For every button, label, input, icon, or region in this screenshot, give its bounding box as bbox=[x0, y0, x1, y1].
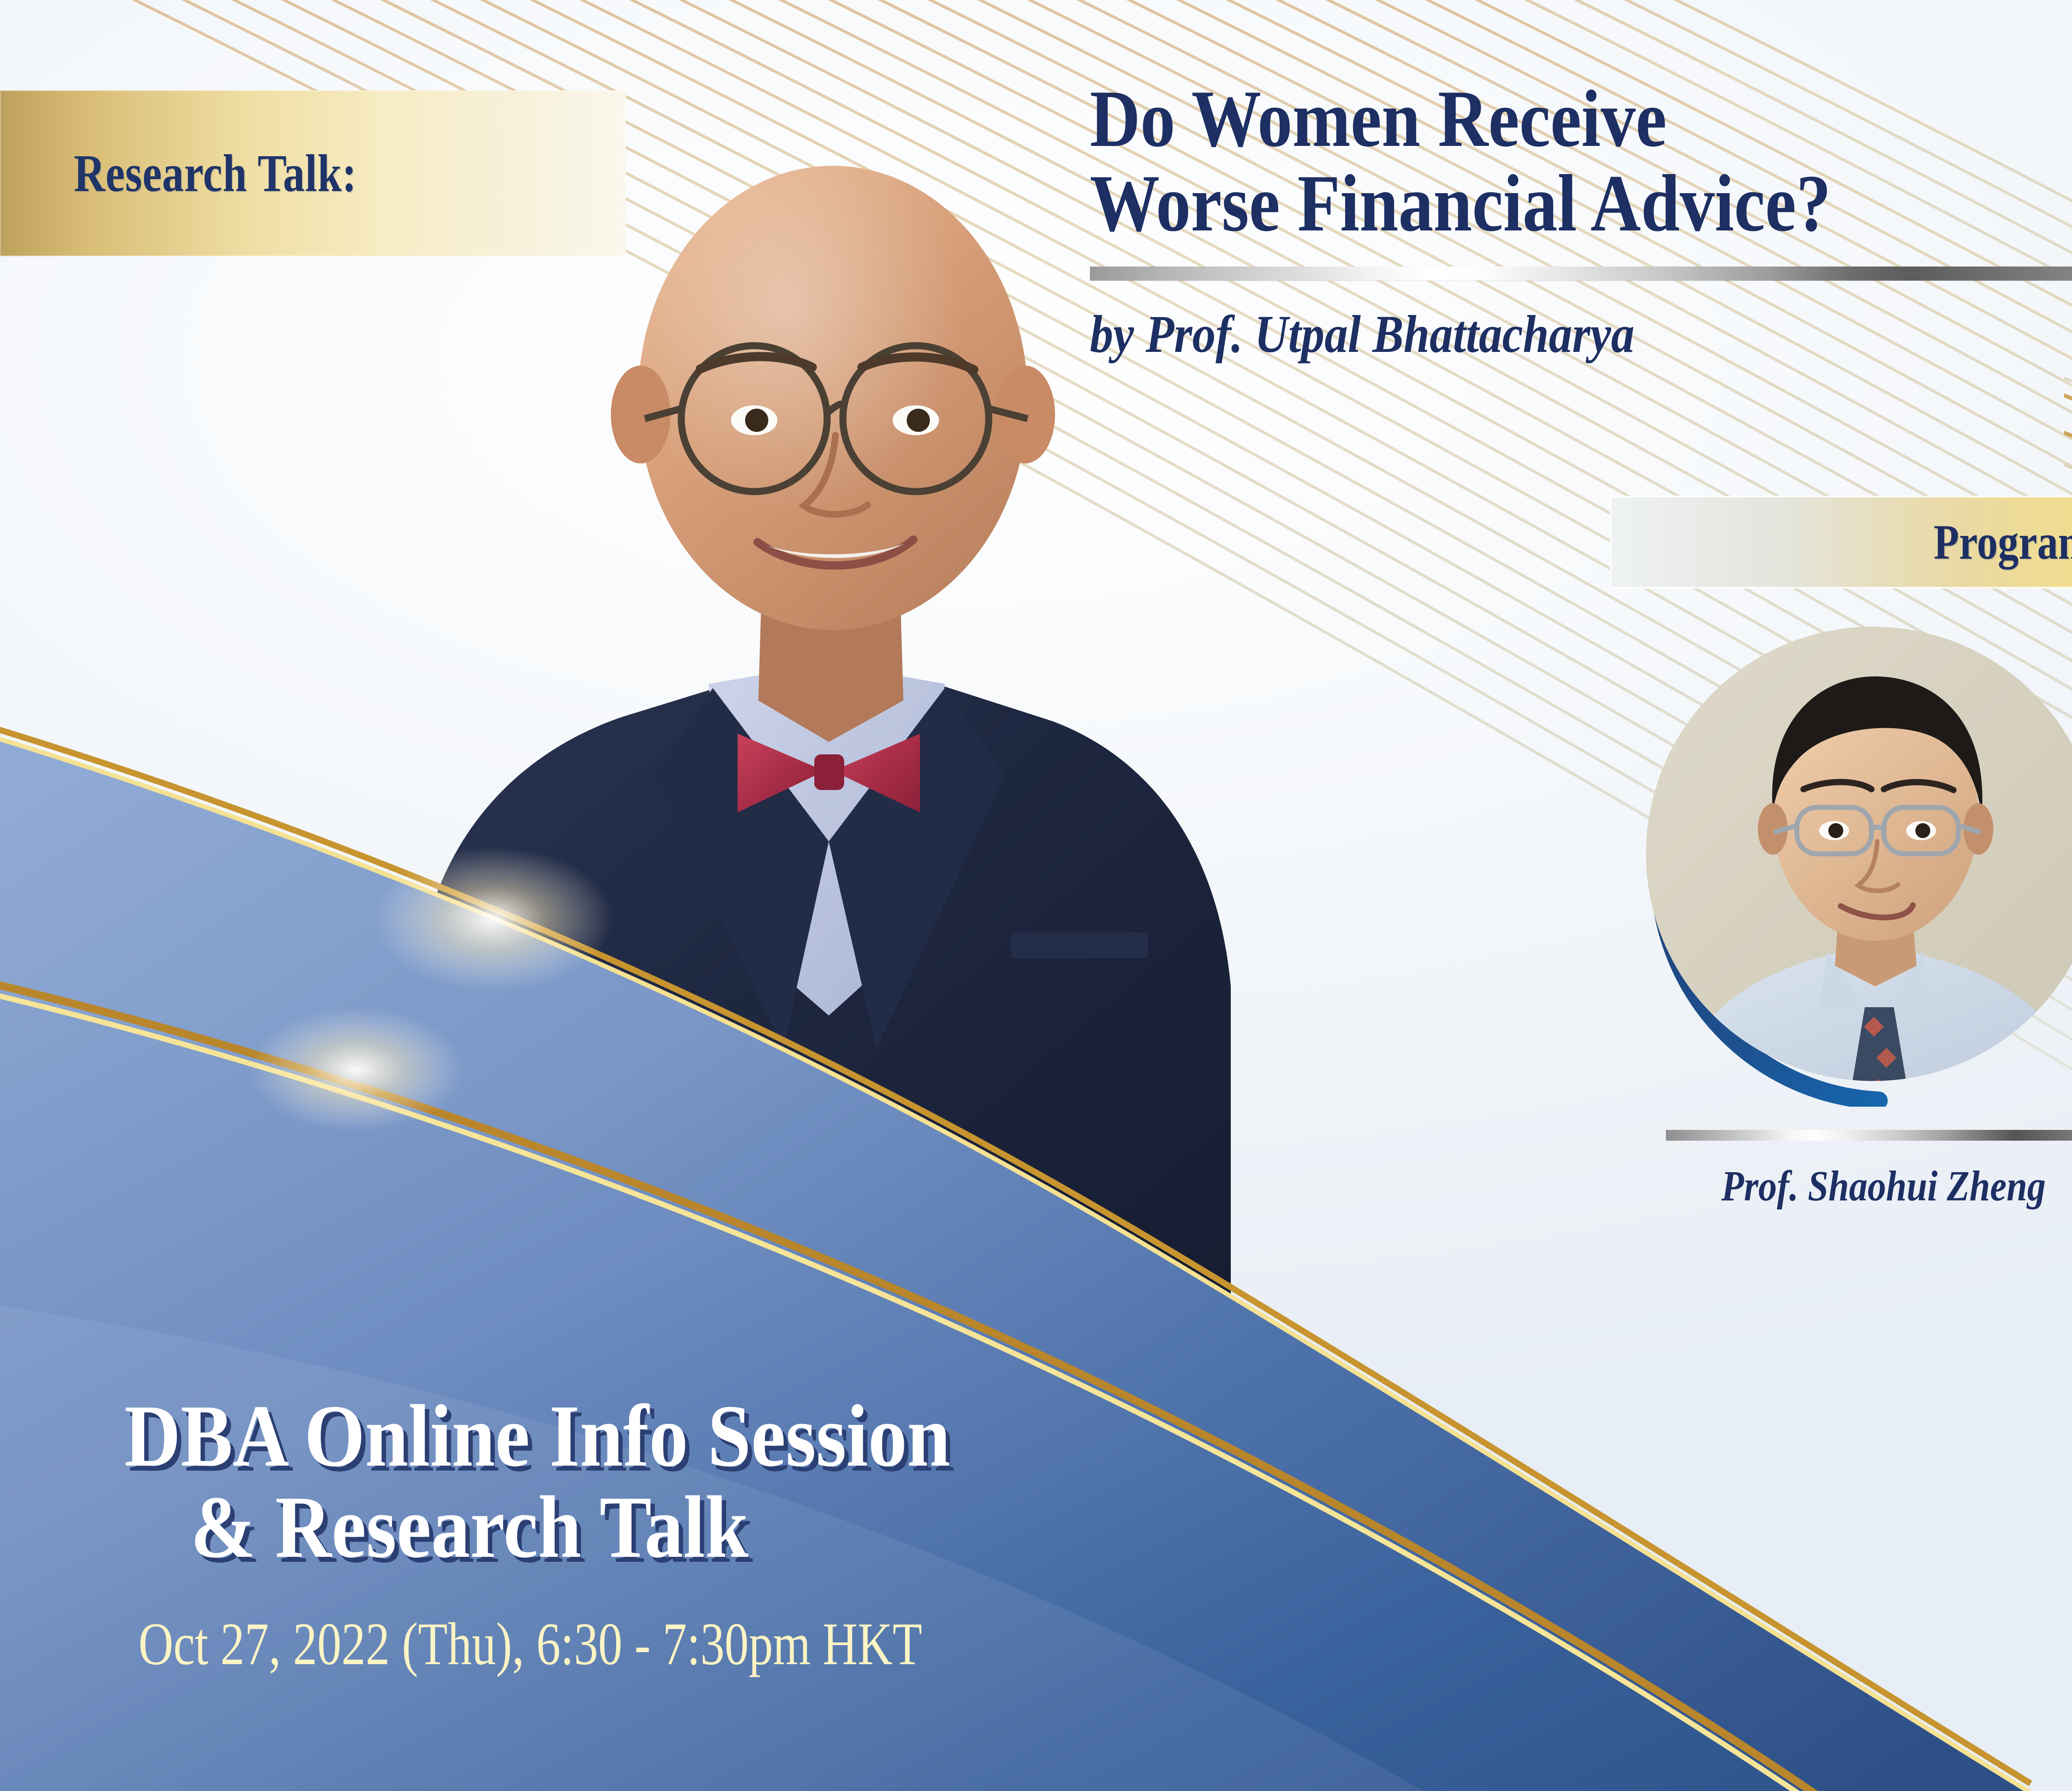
speaker-divider-rule bbox=[1666, 1130, 2072, 1141]
talk-title-line-1: Do Women Receive bbox=[1090, 77, 2072, 161]
title-divider-rule bbox=[1090, 267, 2072, 281]
program-intro-label: Program Introduction and Q&A: bbox=[1934, 514, 2072, 571]
avatar bbox=[1641, 622, 2072, 1107]
event-date-time: Oct 27, 2022 (Thu), 6:30 - 7:30pm HKT bbox=[138, 1609, 1321, 1679]
poster-canvas: Research Talk: Do Women Receive Worse Fi… bbox=[0, 0, 2072, 1791]
speaker-list: Prof. Shaohui Zheng bbox=[1610, 622, 2072, 1306]
talk-title-block: Do Women Receive Worse Financial Advice?… bbox=[1090, 77, 2072, 365]
research-talk-banner: Research Talk: bbox=[0, 90, 626, 256]
research-talk-label: Research Talk: bbox=[74, 143, 357, 204]
talk-author: by Prof. Utpal Bhattacharya bbox=[1090, 304, 2072, 365]
program-intro-banner: Program Introduction and Q&A: bbox=[1610, 496, 2072, 589]
event-title-block: DBA Online Info Session & Research Talk … bbox=[124, 1391, 1616, 1679]
speaker-card-1: Prof. Shaohui Zheng bbox=[1610, 622, 2072, 1306]
speaker-name: Prof. Shaohui Zheng bbox=[1721, 1161, 2046, 1211]
event-title-line-2: & Research Talk bbox=[191, 1482, 1445, 1573]
event-title-line-1: DBA Online Info Session bbox=[124, 1391, 1437, 1482]
talk-title-line-2: Worse Financial Advice? bbox=[1090, 161, 2072, 246]
